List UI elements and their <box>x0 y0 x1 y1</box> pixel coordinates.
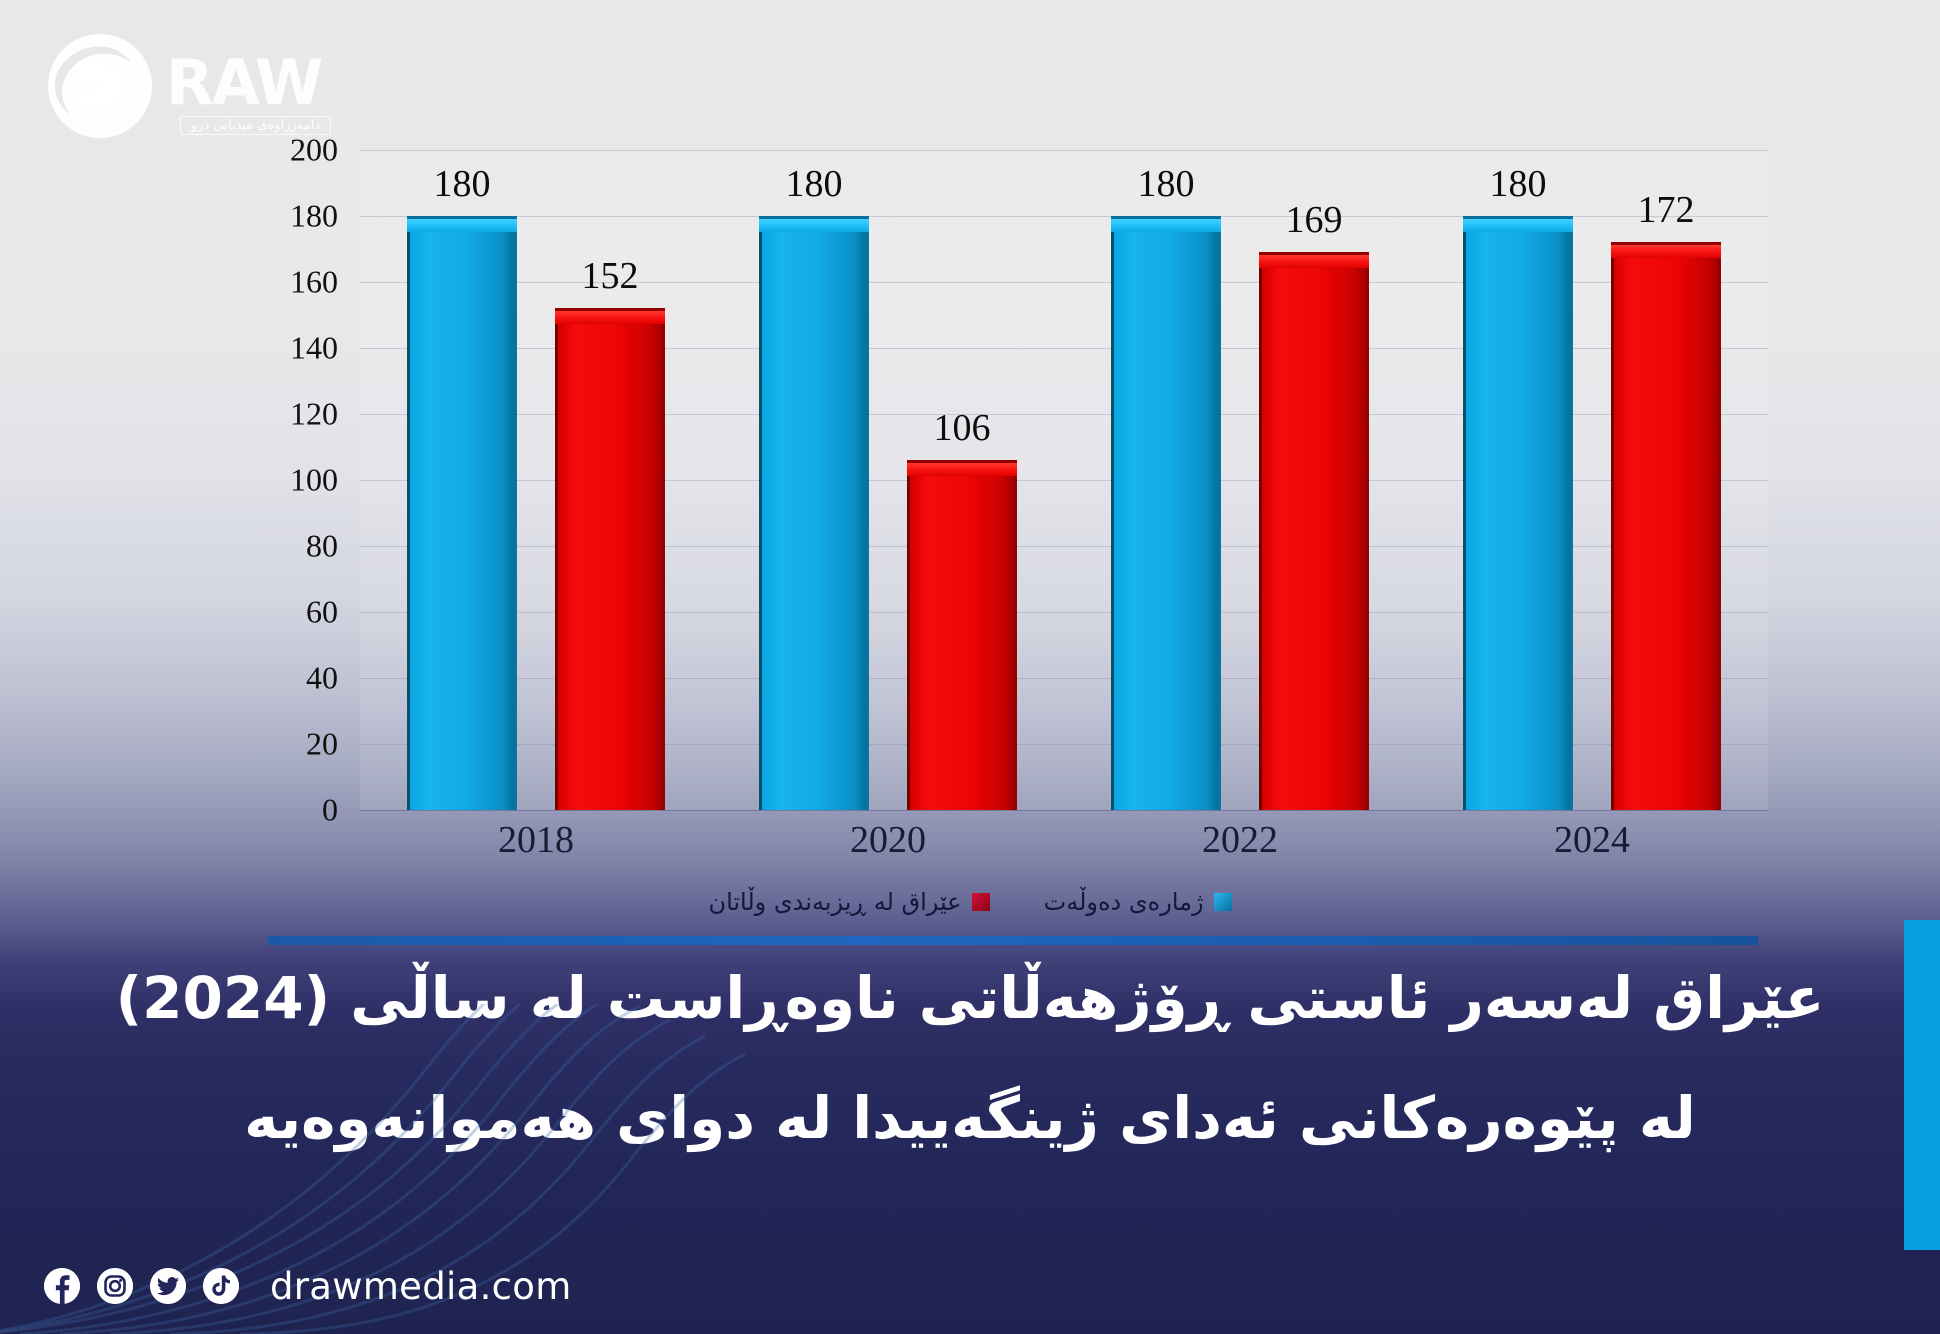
legend-label: عێراق لە ڕیزبەندی وڵاتان <box>708 888 961 916</box>
chart-legend: ژمارەی دەوڵەتعێراق لە ڕیزبەندی وڵاتان <box>0 880 1940 924</box>
bar-value-label: 169 <box>1234 198 1394 242</box>
bar-group: 180172 <box>1463 150 1721 810</box>
bar-top-bevel <box>1259 252 1369 268</box>
website-url[interactable]: drawmedia.com <box>270 1265 572 1308</box>
facebook-icon[interactable] <box>44 1268 80 1304</box>
tiktok-icon[interactable] <box>203 1268 239 1304</box>
x-axis-tick-label: 2020 <box>788 818 988 862</box>
bar-top-bevel <box>907 460 1017 476</box>
bar-state-count[interactable] <box>759 216 869 810</box>
logo-wordmark: RAW <box>166 52 321 114</box>
y-axis-tick-label: 180 <box>268 198 338 235</box>
bar-group: 180152 <box>407 150 665 810</box>
y-axis-tick-label: 0 <box>268 792 338 829</box>
bar-top-bevel <box>1611 242 1721 258</box>
legend-swatch <box>1214 893 1232 911</box>
bar-iraq-rank[interactable] <box>1259 252 1369 810</box>
bar-state-count[interactable] <box>1111 216 1221 810</box>
bar-value-label: 180 <box>382 162 542 206</box>
bar-value-label: 106 <box>882 406 1042 450</box>
legend-swatch <box>972 893 990 911</box>
bar-state-count[interactable] <box>407 216 517 810</box>
headline-line-1: عێراق لەسەر ئاستی ڕۆژهەڵاتی ناوەڕاست لە … <box>50 965 1890 1032</box>
y-axis-tick-label: 80 <box>268 528 338 565</box>
x-axis-tick-label: 2024 <box>1492 818 1692 862</box>
bar-group: 180169 <box>1111 150 1369 810</box>
bar-top-bevel <box>555 308 665 324</box>
y-axis-tick-label: 200 <box>268 132 338 169</box>
headline-line-2: لە پێوەرەکانی ئەدای ژینگەییدا لە دوای هە… <box>50 1085 1890 1152</box>
bar-value-label: 180 <box>1438 162 1598 206</box>
bar-group: 180106 <box>759 150 1017 810</box>
footer-bar: drawmedia.com <box>44 1258 572 1314</box>
poster-canvas: RAW دامەزراوەی میدیایی درو 0204060801001… <box>0 0 1940 1334</box>
bar-top-bevel <box>1463 216 1573 232</box>
y-axis-tick-label: 60 <box>268 594 338 631</box>
y-axis-tick-label: 120 <box>268 396 338 433</box>
bar-top-bevel <box>759 216 869 232</box>
bar-chart: 020406080100120140160180200 180152180106… <box>268 150 1768 810</box>
plot-area: 180152180106180169180172 <box>360 150 1768 810</box>
bar-value-label: 172 <box>1586 188 1746 232</box>
legend-item[interactable]: عێراق لە ڕیزبەندی وڵاتان <box>708 888 989 916</box>
legend-label: ژمارەی دەوڵەت <box>1044 888 1204 916</box>
y-axis-tick-label: 140 <box>268 330 338 367</box>
x-axis-tick-label: 2022 <box>1140 818 1340 862</box>
bar-top-bevel <box>1111 216 1221 232</box>
bar-top-bevel <box>407 216 517 232</box>
bar-value-label: 180 <box>1086 162 1246 206</box>
bars-layer: 180152180106180169180172 <box>360 150 1768 810</box>
gridline <box>360 810 1768 811</box>
bar-value-label: 152 <box>530 254 690 298</box>
y-axis-tick-label: 20 <box>268 726 338 763</box>
y-axis-tick-label: 40 <box>268 660 338 697</box>
bar-state-count[interactable] <box>1463 216 1573 810</box>
bar-iraq-rank[interactable] <box>907 460 1017 810</box>
section-divider <box>268 936 1758 945</box>
y-axis-tick-label: 160 <box>268 264 338 301</box>
bar-iraq-rank[interactable] <box>555 308 665 810</box>
d-circle-logo-icon <box>48 34 152 138</box>
y-axis-tick-label: 100 <box>268 462 338 499</box>
legend-item[interactable]: ژمارەی دەوڵەت <box>1044 888 1232 916</box>
y-axis: 020406080100120140160180200 <box>268 150 348 810</box>
brand-logo: RAW دامەزراوەی میدیایی درو <box>48 30 358 140</box>
x-axis-tick-label: 2018 <box>436 818 636 862</box>
twitter-icon[interactable] <box>150 1268 186 1304</box>
bar-value-label: 180 <box>734 162 894 206</box>
bar-iraq-rank[interactable] <box>1611 242 1721 810</box>
right-accent-bar <box>1904 920 1940 1250</box>
instagram-icon[interactable] <box>97 1268 133 1304</box>
